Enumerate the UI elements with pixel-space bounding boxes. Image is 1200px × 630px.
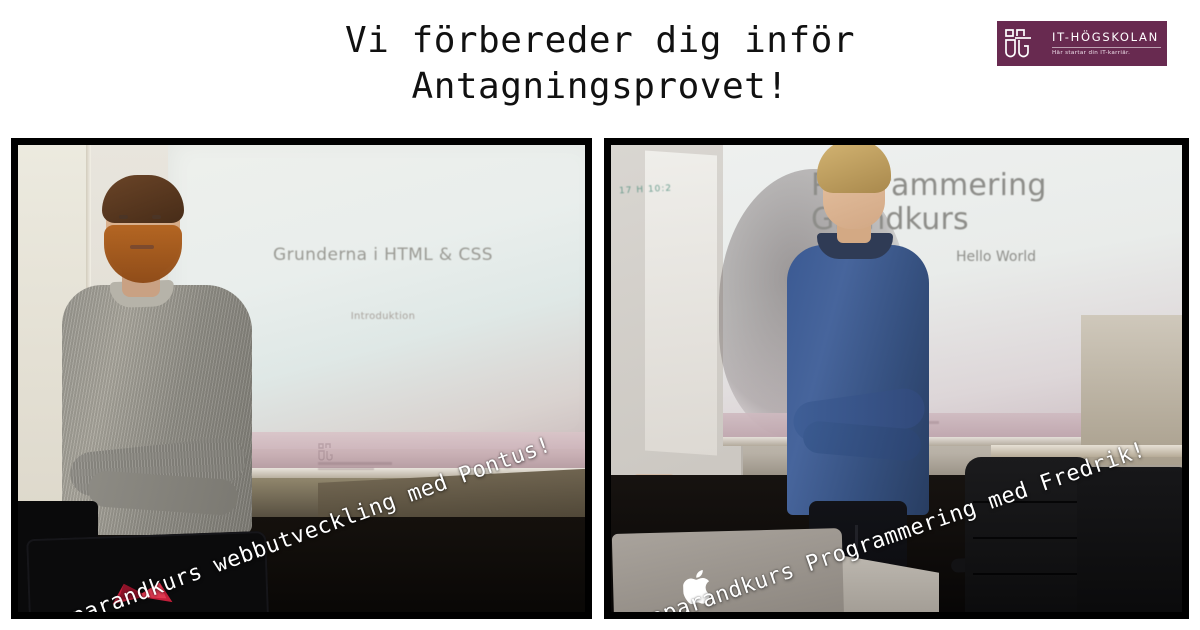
chair-slat-3 bbox=[973, 573, 1085, 575]
person-torso-right bbox=[787, 245, 929, 515]
wall-right bbox=[1081, 315, 1182, 465]
poster-canvas: Vi förbereder dig inför Antagningsprovet… bbox=[0, 0, 1200, 630]
wall-rail-right bbox=[991, 445, 1182, 457]
chair-slat-2 bbox=[973, 537, 1085, 539]
classroom-scene-right: 17 H 10:2 Programmering Grundkurs Hello … bbox=[611, 145, 1182, 612]
header: Vi förbereder dig inför Antagningsprovet… bbox=[0, 0, 1200, 137]
logo-text-block: IT-HÖGSKOLAN Här startar din IT-karriär. bbox=[1052, 31, 1161, 57]
logo-tagline: Här startar din IT-karriär. bbox=[1052, 50, 1161, 57]
chair-slat-1 bbox=[973, 501, 1085, 503]
page-title-line-2: Antagningsprovet! bbox=[0, 64, 1200, 110]
person-hair-right bbox=[817, 145, 891, 193]
photo-left: Grunderna i HTML & CSS Introduktion bbox=[18, 145, 585, 612]
slide-watermark-mark-icon bbox=[318, 443, 334, 463]
whiteboard-panel-right bbox=[645, 150, 717, 455]
it-hogskolan-monogram-icon bbox=[1003, 27, 1045, 61]
logo-divider bbox=[1052, 47, 1161, 48]
photo-right: 17 H 10:2 Programmering Grundkurs Hello … bbox=[611, 145, 1182, 612]
page-title-line-1: Vi förbereder dig inför bbox=[345, 20, 855, 61]
bottom-white-strip bbox=[0, 619, 1200, 630]
photo-frame-left[interactable]: Grunderna i HTML & CSS Introduktion bbox=[11, 138, 592, 619]
brand-logo[interactable]: IT-HÖGSKOLAN Här startar din IT-karriär. bbox=[997, 21, 1167, 66]
red-polygon-laptop-logo-icon bbox=[109, 572, 174, 608]
apple-logo-icon bbox=[683, 567, 716, 606]
person-mouth-left bbox=[130, 245, 154, 249]
logo-name: IT-HÖGSKOLAN bbox=[1052, 31, 1161, 44]
chair-right-secondary bbox=[1077, 467, 1182, 612]
person-eye-left-a bbox=[119, 215, 128, 219]
laptop-right bbox=[612, 528, 844, 612]
slide-watermark-logo-left bbox=[318, 443, 438, 467]
chair-right-primary bbox=[965, 457, 1093, 612]
photo-frame-right[interactable]: 17 H 10:2 Programmering Grundkurs Hello … bbox=[604, 138, 1189, 619]
slide-title-left: Grunderna i HTML & CSS bbox=[168, 245, 585, 265]
classroom-scene-left: Grunderna i HTML & CSS Introduktion bbox=[18, 145, 585, 612]
laptop-left bbox=[26, 531, 270, 612]
person-eye-left-b bbox=[152, 215, 161, 219]
slide-watermark-text-left bbox=[318, 462, 438, 470]
